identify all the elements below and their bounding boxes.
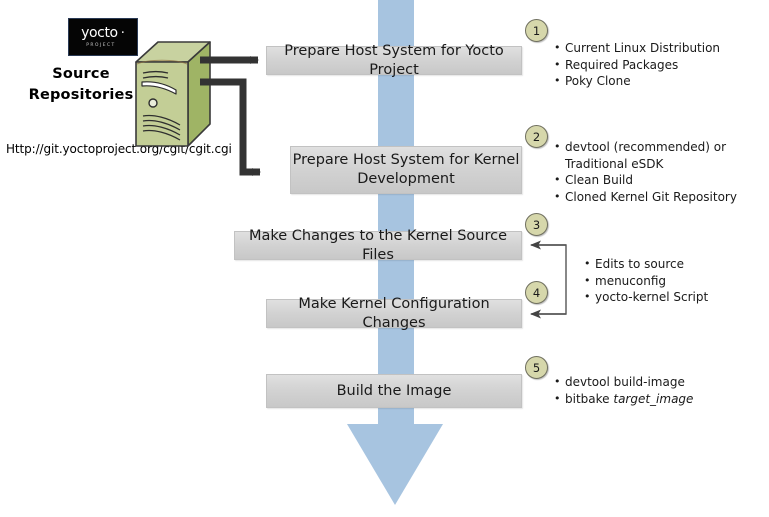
step-number-badge-4: 4: [525, 281, 548, 304]
step-number-badge-1: 1: [525, 19, 548, 42]
steps-3-4-bullet-list: Edits to source menuconfig yocto-kernel …: [584, 256, 754, 306]
step-number-3: 3: [533, 218, 540, 232]
source-repositories-label: Source Repositories: [20, 64, 142, 106]
step-number-1: 1: [533, 24, 540, 38]
step-5-box-label: Build the Image: [337, 382, 452, 401]
source-label-line2: Repositories: [20, 85, 142, 106]
step-number-4: 4: [533, 286, 540, 300]
diagram-canvas: yocto · PROJECT Source Repositories Http…: [0, 0, 769, 517]
step-2-bullet-item: Cloned Kernel Git Repository: [554, 189, 759, 206]
step-2-bullet-line2: Traditional eSDK: [565, 156, 759, 173]
step-4-box[interactable]: Make Kernel Configuration Changes: [266, 299, 522, 328]
step-5-bullet-target: target_image: [613, 392, 693, 406]
steps-3-4-bullet-item: menuconfig: [584, 273, 754, 290]
yocto-project-logo: yocto · PROJECT: [68, 18, 138, 56]
step-number-2: 2: [533, 130, 540, 144]
steps-3-4-bullet-item: yocto-kernel Script: [584, 289, 754, 306]
step-5-bullet-list: devtool build-image bitbake target_image: [554, 374, 754, 407]
logo-dot-icon: ·: [118, 26, 125, 41]
step-4-box-label: Make Kernel Configuration Changes: [267, 295, 521, 333]
logo-subtitle: PROJECT: [86, 42, 115, 49]
step-1-bullet-item: Poky Clone: [554, 73, 764, 90]
step-3-box[interactable]: Make Changes to the Kernel Source Files: [234, 231, 522, 260]
step-3-box-label: Make Changes to the Kernel Source Files: [235, 227, 521, 265]
step-number-badge-5: 5: [525, 356, 548, 379]
step-number-badge-2: 2: [525, 125, 548, 148]
server-tower-icon: [134, 40, 212, 148]
step-2-box-label-line1: Prepare Host System for Kernel: [293, 152, 520, 168]
step-2-bullet-list: devtool (recommended) or Traditional eSD…: [554, 139, 759, 205]
steps-3-4-bullet-item: Edits to source: [584, 256, 754, 273]
step-5-box[interactable]: Build the Image: [266, 374, 522, 408]
step-1-bullet-item: Current Linux Distribution: [554, 40, 764, 57]
step-2-bullet-line1: devtool (recommended) or: [565, 140, 726, 154]
step-1-bullet-item: Required Packages: [554, 57, 764, 74]
step-1-bullet-list: Current Linux Distribution Required Pack…: [554, 40, 764, 90]
source-label-line1: Source: [20, 64, 142, 85]
step-2-bullet-item: devtool (recommended) or Traditional eSD…: [554, 139, 759, 172]
step-2-box-label: Prepare Host System for Kernel Developme…: [293, 151, 520, 189]
step-number-5: 5: [533, 361, 540, 375]
step-2-box-label-line2: Development: [357, 171, 455, 187]
step-5-bullet-command: bitbake: [565, 392, 613, 406]
step-2-bullet-item: Clean Build: [554, 172, 759, 189]
step-5-bullet-item: bitbake target_image: [554, 391, 754, 408]
step-1-box-label: Prepare Host System for Yocto Project: [267, 42, 521, 80]
step-5-bullet-item: devtool build-image: [554, 374, 754, 391]
logo-wordmark: yocto: [81, 26, 118, 40]
step-2-box[interactable]: Prepare Host System for Kernel Developme…: [290, 146, 522, 194]
step-1-box[interactable]: Prepare Host System for Yocto Project: [266, 46, 522, 75]
step-number-badge-3: 3: [525, 213, 548, 236]
